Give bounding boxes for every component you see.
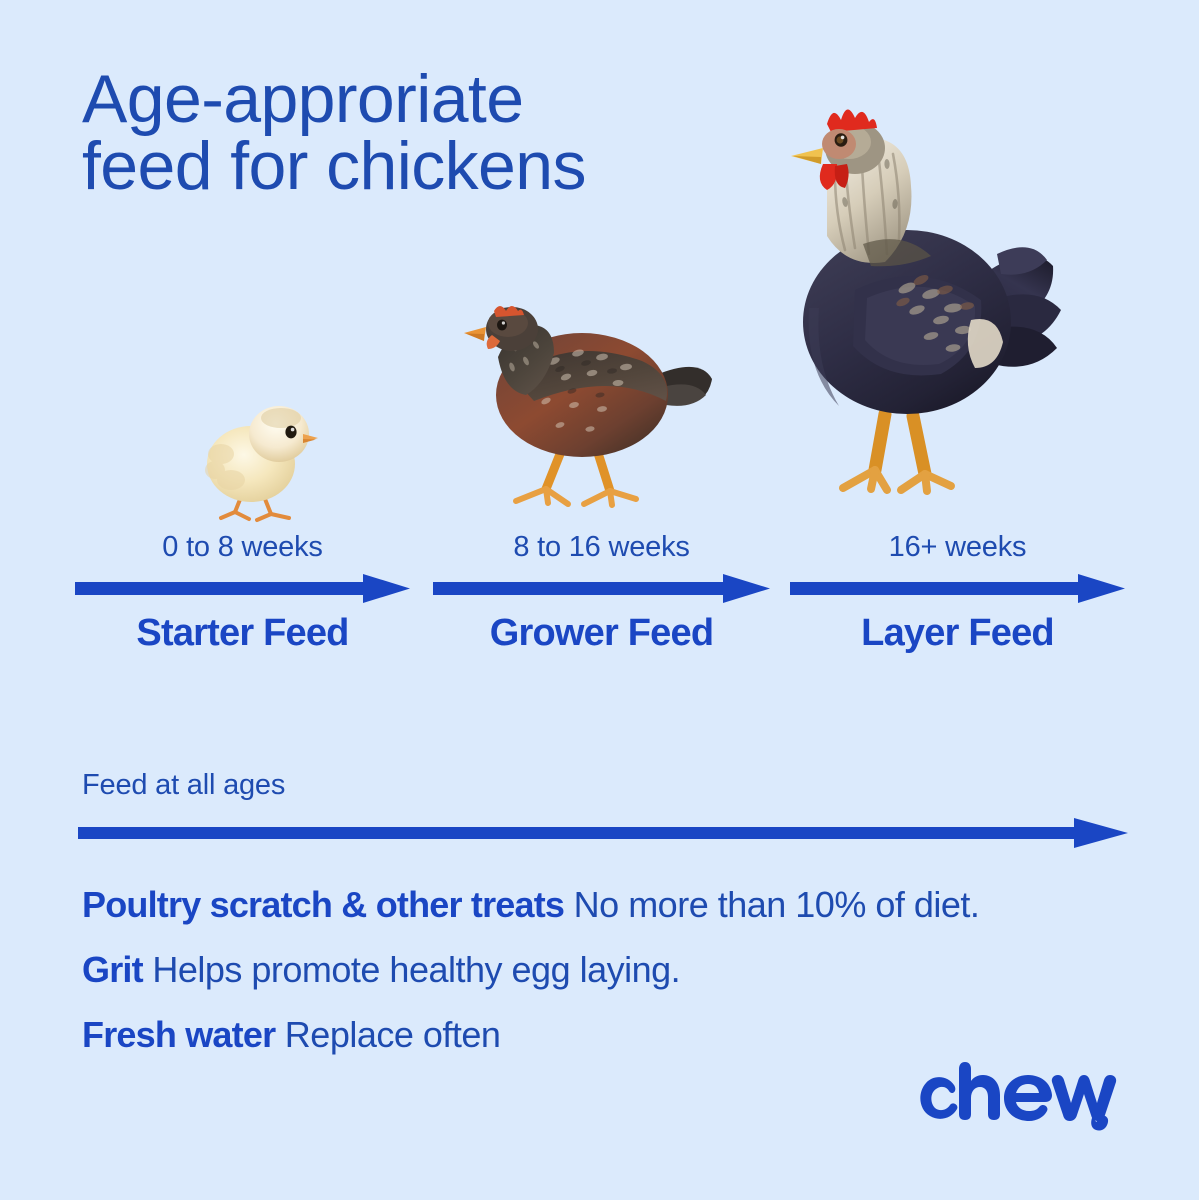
hen-image [735,98,1080,528]
all-ages-arrow [78,816,1128,850]
chicken-illustration-group [0,60,1199,530]
bullet-desc-water: Replace often [285,1014,501,1055]
timeline-arrow-layer [790,572,1125,604]
timeline-stage-layer: 16+ weeks Layer Feed [790,530,1125,690]
age-label-layer: 16+ weeks [790,530,1125,564]
bullet-desc-scratch: No more than 10% of diet. [574,884,980,925]
age-label-grower: 8 to 16 weeks [433,530,770,564]
all-ages-items: Poultry scratch & other treats No more t… [82,872,1152,1067]
timeline-stage-grower: 8 to 16 weeks Grower Feed [433,530,770,690]
feed-timeline: 0 to 8 weeks Starter Feed 8 to 16 weeks … [0,530,1199,690]
bullet-term-water: Fresh water [82,1014,275,1055]
timeline-arrow-grower [433,572,770,604]
pullet-image [450,283,730,528]
all-ages-label: Feed at all ages [82,768,285,802]
bullet-desc-grit: Helps promote healthy egg laying. [152,949,680,990]
timeline-arrow-starter [75,572,410,604]
feed-label-layer: Layer Feed [790,610,1125,656]
bullet-term-scratch: Poultry scratch & other treats [82,884,564,925]
chick-image [185,388,335,528]
list-item: Poultry scratch & other treats No more t… [82,872,1152,937]
list-item: Grit Helps promote healthy egg laying. [82,937,1152,1002]
age-label-starter: 0 to 8 weeks [75,530,410,564]
timeline-stage-starter: 0 to 8 weeks Starter Feed [75,530,410,690]
feed-label-starter: Starter Feed [75,610,410,656]
infographic-canvas: Age-approriate feed for chickens [0,0,1199,1200]
feed-label-grower: Grower Feed [433,610,770,656]
chewy-logo [918,1058,1118,1132]
bullet-term-grit: Grit [82,949,143,990]
